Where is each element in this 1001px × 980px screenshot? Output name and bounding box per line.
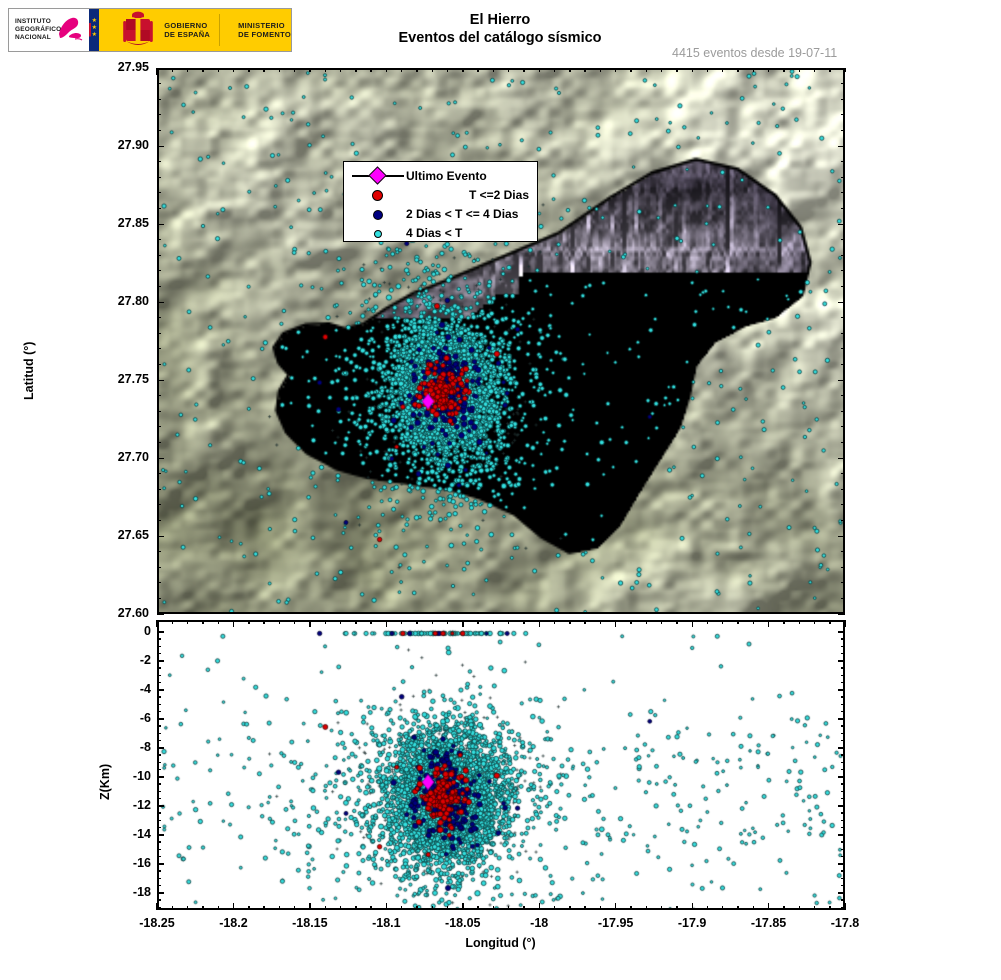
depth-minor-tick-right <box>841 653 845 654</box>
latitude-minor-tick <box>157 348 161 349</box>
latitude-tick-label: 27.70 <box>89 450 149 464</box>
longitude-map-tick <box>279 68 280 72</box>
longitude-map-tick <box>539 68 540 72</box>
latitude-minor-tick <box>157 364 161 365</box>
depth-minor-tick-right <box>841 892 845 893</box>
depth-minor-tick <box>157 762 161 763</box>
longitude-section-tick-bottom <box>263 906 264 910</box>
map-epicenter-scatter <box>159 70 843 612</box>
latitude-minor-tick-right <box>841 161 845 162</box>
depth-minor-tick-right <box>841 754 845 755</box>
longitude-map-tick <box>432 68 433 72</box>
latitude-minor-tick <box>157 458 161 459</box>
latitude-minor-tick-right <box>841 224 845 225</box>
eu-flag-strip: ★ ★ ★ <box>89 9 100 51</box>
depth-minor-tick <box>157 725 161 726</box>
longitude-section-tick-bottom <box>584 906 585 910</box>
depth-minor-tick-right <box>841 638 845 639</box>
depth-minor-tick-right <box>841 812 845 813</box>
longitude-section-tick-top <box>569 620 570 624</box>
longitude-section-tick-top <box>707 620 708 624</box>
institutional-logo-block: INSTITUTOGEOGRÁFICONACIONAL ★ ★ ★ <box>8 8 292 52</box>
latitude-minor-tick <box>157 395 161 396</box>
ign-emblem-icon <box>55 16 85 42</box>
longitude-section-tick-bottom <box>799 906 800 910</box>
latitude-minor-tick <box>157 567 161 568</box>
longitude-section-tick-top <box>630 620 631 624</box>
depth-tick-label: -14 <box>111 827 151 841</box>
depth-minor-tick <box>157 660 161 661</box>
depth-minor-tick <box>157 783 161 784</box>
depth-minor-tick <box>157 863 161 864</box>
longitude-map-tick <box>156 68 157 75</box>
depth-minor-tick <box>157 834 161 835</box>
longitude-map-tick <box>615 68 616 72</box>
longitude-section-tick-top <box>462 620 463 627</box>
depth-minor-tick-right <box>841 885 845 886</box>
longitude-section-tick-top <box>218 620 219 624</box>
depth-minor-tick-right <box>841 704 845 705</box>
longitude-map-tick <box>233 68 234 72</box>
title-line-1: El Hierro <box>300 11 700 29</box>
depth-minor-tick-right <box>841 762 845 763</box>
longitude-section-tick-top <box>248 620 249 624</box>
longitude-section-tick-bottom <box>156 903 157 910</box>
longitude-map-tick <box>477 68 478 72</box>
depth-minor-tick-right <box>841 682 845 683</box>
longitude-section-tick-bottom <box>844 903 845 910</box>
depth-minor-tick <box>157 856 161 857</box>
ign-logo: INSTITUTOGEOGRÁFICONACIONAL <box>9 9 89 51</box>
depth-minor-tick <box>157 704 161 705</box>
latitude-minor-tick <box>157 333 161 334</box>
longitude-section-tick-bottom <box>340 906 341 910</box>
longitude-section-tick-top <box>646 620 647 624</box>
depth-minor-tick-right <box>841 820 845 821</box>
longitude-map-tick <box>218 68 219 72</box>
depth-minor-tick <box>157 827 161 828</box>
longitude-map-tick <box>554 68 555 72</box>
depth-minor-tick-right <box>841 689 845 690</box>
longitude-map-tick <box>325 68 326 72</box>
longitude-section-tick-top <box>737 620 738 624</box>
longitude-map-tick <box>829 68 830 72</box>
longitude-map-tick <box>844 68 845 72</box>
gobierno-line2: DE ESPAÑA <box>164 30 210 39</box>
legend-label-3: 4 Dias < T <box>406 226 531 240</box>
legend-label-0: Ultimo Evento <box>406 169 531 183</box>
ministerio-line2: DE FOMENTO <box>238 30 291 39</box>
depth-hypocenter-scatter <box>159 622 843 908</box>
depth-minor-tick-right <box>841 660 845 661</box>
latitude-minor-tick-right <box>841 270 845 271</box>
longitude-tick-label: -18.2 <box>199 916 267 930</box>
depth-minor-tick-right <box>841 849 845 850</box>
latitude-minor-tick-right <box>841 286 845 287</box>
depth-minor-tick-right <box>841 827 845 828</box>
longitude-section-tick-bottom <box>309 903 310 910</box>
depth-axis-title: Z(Km) <box>98 764 112 800</box>
depth-tick-label: -10 <box>111 769 151 783</box>
latitude-minor-tick <box>157 208 161 209</box>
longitude-section-tick-top <box>508 620 509 624</box>
latitude-minor-tick-right <box>841 598 845 599</box>
longitude-axis-title: Longitud (°) <box>0 936 1001 950</box>
longitude-tick-label: -18 <box>505 916 573 930</box>
map-plot-panel[interactable]: Ultimo Evento T <=2 Dias 2 Dias < T <= 4… <box>157 68 845 614</box>
depth-minor-tick <box>157 899 161 900</box>
longitude-section-tick-bottom <box>202 906 203 910</box>
depth-tick-label: -6 <box>111 711 151 725</box>
legend-item-old: 4 Dias < T <box>350 223 531 242</box>
latitude-minor-tick <box>157 270 161 271</box>
longitude-section-tick-top <box>432 620 433 624</box>
longitude-section-tick-bottom <box>753 906 754 910</box>
longitude-section-tick-top <box>447 620 448 624</box>
longitude-map-tick <box>584 68 585 72</box>
latitude-minor-tick-right <box>841 567 845 568</box>
latitude-minor-tick <box>157 161 161 162</box>
longitude-section-tick-bottom <box>707 906 708 910</box>
longitude-tick-label: -18.05 <box>429 916 497 930</box>
ign-logo-line3: NACIONAL <box>15 34 51 41</box>
latitude-minor-tick-right <box>841 411 845 412</box>
latitude-minor-tick <box>157 130 161 131</box>
depth-minor-tick-right <box>841 798 845 799</box>
longitude-map-tick <box>294 68 295 72</box>
depth-minor-tick <box>157 849 161 850</box>
depth-minor-tick <box>157 718 161 719</box>
latitude-minor-tick-right <box>841 395 845 396</box>
longitude-tick-label: -18.15 <box>276 916 344 930</box>
longitude-section-tick-top <box>370 620 371 624</box>
longitude-section-tick-bottom <box>615 903 616 910</box>
longitude-map-tick <box>263 68 264 72</box>
latitude-minor-tick-right <box>841 582 845 583</box>
depth-minor-tick <box>157 646 161 647</box>
latitude-minor-tick <box>157 380 161 381</box>
longitude-map-tick <box>661 68 662 72</box>
latitude-minor-tick <box>157 239 161 240</box>
longitude-section-tick-top <box>309 620 310 627</box>
latitude-axis-title: Latitud (°) <box>22 342 36 400</box>
latitude-minor-tick <box>157 411 161 412</box>
longitude-section-tick-bottom <box>508 906 509 910</box>
ministerio-line1: MINISTERIO <box>238 21 285 30</box>
longitude-section-tick-top <box>386 620 387 627</box>
longitude-section-tick-top <box>325 620 326 624</box>
longitude-section-tick-bottom <box>248 906 249 910</box>
longitude-map-tick <box>814 68 815 72</box>
longitude-section-tick-bottom <box>569 906 570 910</box>
depth-minor-tick-right <box>841 696 845 697</box>
longitude-section-tick-bottom <box>600 906 601 910</box>
longitude-section-tick-bottom <box>814 906 815 910</box>
info-total-events: 4415 eventos desde 19-07-11 <box>672 45 837 62</box>
longitude-section-tick-top <box>523 620 524 624</box>
latitude-minor-tick <box>157 489 161 490</box>
latitude-minor-tick-right <box>841 348 845 349</box>
latitude-minor-tick-right <box>841 317 845 318</box>
longitude-section-tick-top <box>355 620 356 624</box>
depth-minor-tick <box>157 638 161 639</box>
longitude-section-tick-top <box>187 620 188 624</box>
longitude-section-tick-bottom <box>829 906 830 910</box>
longitude-section-tick-bottom <box>187 906 188 910</box>
longitude-section-tick-top <box>844 620 845 627</box>
cyan-circle-icon <box>350 223 406 242</box>
longitude-map-tick <box>753 68 754 72</box>
depth-tick-label: 0 <box>111 624 151 638</box>
latitude-minor-tick-right <box>841 489 845 490</box>
latitude-tick-label: 27.80 <box>89 294 149 308</box>
ign-logo-line1: INSTITUTO <box>15 18 51 25</box>
depth-minor-tick <box>157 812 161 813</box>
depth-minor-tick <box>157 754 161 755</box>
longitude-section-tick-bottom <box>294 906 295 910</box>
depth-minor-tick-right <box>841 805 845 806</box>
longitude-tick-label: -17.8 <box>811 916 879 930</box>
longitude-section-tick-bottom <box>325 906 326 910</box>
latitude-minor-tick-right <box>841 536 845 537</box>
depth-minor-tick-right <box>841 646 845 647</box>
longitude-section-tick-top <box>753 620 754 624</box>
longitude-map-tick <box>799 68 800 72</box>
depth-minor-tick-right <box>841 783 845 784</box>
longitude-section-tick-top <box>477 620 478 624</box>
longitude-section-tick-bottom <box>661 906 662 910</box>
legend-item-last-event: Ultimo Evento <box>350 166 531 185</box>
latitude-minor-tick <box>157 224 161 225</box>
depth-minor-tick <box>157 689 161 690</box>
longitude-tick-label: -18.25 <box>123 916 191 930</box>
longitude-map-tick <box>187 68 188 72</box>
blue-circle-icon <box>350 204 406 223</box>
longitude-section-tick-bottom <box>523 906 524 910</box>
depth-minor-tick <box>157 653 161 654</box>
longitude-map-tick <box>676 68 677 72</box>
latitude-minor-tick-right <box>841 208 845 209</box>
depth-tick-label: -12 <box>111 798 151 812</box>
depth-minor-tick <box>157 878 161 879</box>
latitude-minor-tick-right <box>841 99 845 100</box>
depth-minor-tick-right <box>841 899 845 900</box>
longitude-section-tick-top <box>661 620 662 624</box>
longitude-section-tick-bottom <box>172 906 173 910</box>
logo-divider <box>219 14 220 46</box>
depth-minor-tick <box>157 675 161 676</box>
latitude-minor-tick-right <box>841 364 845 365</box>
longitude-map-tick <box>447 68 448 72</box>
depth-minor-tick-right <box>841 675 845 676</box>
latitude-minor-tick-right <box>841 192 845 193</box>
longitude-section-tick-top <box>416 620 417 624</box>
latitude-minor-tick-right <box>841 520 845 521</box>
longitude-section-tick-bottom <box>233 903 234 910</box>
depth-minor-tick <box>157 841 161 842</box>
longitude-section-tick-top <box>263 620 264 624</box>
longitude-map-tick <box>523 68 524 72</box>
latitude-minor-tick <box>157 192 161 193</box>
longitude-tick-label: -17.9 <box>658 916 726 930</box>
longitude-map-tick <box>248 68 249 72</box>
longitude-map-tick <box>309 68 310 72</box>
longitude-section-tick-top <box>493 620 494 624</box>
longitude-section-tick-bottom <box>493 906 494 910</box>
latitude-tick-label: 27.60 <box>89 606 149 620</box>
longitude-tick-label: -17.95 <box>582 916 650 930</box>
coat-of-arms-icon <box>121 10 155 50</box>
longitude-section-tick-bottom <box>783 906 784 910</box>
longitude-section-tick-top <box>233 620 234 627</box>
latitude-minor-tick <box>157 473 161 474</box>
depth-tick-label: -4 <box>111 682 151 696</box>
depth-minor-tick-right <box>841 740 845 741</box>
red-circle-icon <box>350 185 406 204</box>
map-legend: Ultimo Evento T <=2 Dias 2 Dias < T <= 4… <box>343 161 538 242</box>
depth-minor-tick-right <box>841 725 845 726</box>
longitude-section-tick-bottom <box>646 906 647 910</box>
longitude-section-tick-top <box>156 620 157 627</box>
longitude-map-tick <box>340 68 341 72</box>
longitude-map-tick <box>416 68 417 72</box>
depth-minor-tick <box>157 791 161 792</box>
longitude-map-tick <box>401 68 402 72</box>
longitude-map-tick <box>737 68 738 72</box>
depth-minor-tick <box>157 885 161 886</box>
depth-minor-tick-right <box>841 776 845 777</box>
longitude-section-tick-bottom <box>279 906 280 910</box>
longitude-section-tick-top <box>600 620 601 624</box>
latitude-tick-label: 27.90 <box>89 138 149 152</box>
latitude-minor-tick <box>157 520 161 521</box>
latitude-minor-tick <box>157 614 161 615</box>
latitude-minor-tick <box>157 582 161 583</box>
depth-minor-tick <box>157 631 161 632</box>
depth-minor-tick <box>157 776 161 777</box>
longitude-map-tick <box>722 68 723 72</box>
longitude-section-tick-top <box>615 620 616 627</box>
depth-minor-tick-right <box>841 631 845 632</box>
latitude-tick-label: 27.85 <box>89 216 149 230</box>
depth-section-panel[interactable] <box>157 620 845 910</box>
latitude-minor-tick <box>157 504 161 505</box>
longitude-section-tick-bottom <box>630 906 631 910</box>
latitude-tick-label: 27.95 <box>89 60 149 74</box>
depth-minor-tick <box>157 798 161 799</box>
longitude-map-tick <box>600 68 601 72</box>
longitude-section-tick-bottom <box>416 906 417 910</box>
latitude-minor-tick-right <box>841 426 845 427</box>
longitude-map-tick <box>768 68 769 72</box>
latitude-minor-tick-right <box>841 504 845 505</box>
gobierno-line1: GOBIERNO <box>164 21 207 30</box>
latitude-tick-label: 27.65 <box>89 528 149 542</box>
latitude-minor-tick-right <box>841 239 845 240</box>
latitude-minor-tick <box>157 426 161 427</box>
depth-minor-tick-right <box>841 870 845 871</box>
latitude-minor-tick-right <box>841 177 845 178</box>
longitude-map-tick <box>508 68 509 72</box>
longitude-section-tick-top <box>294 620 295 624</box>
depth-minor-tick-right <box>841 878 845 879</box>
latitude-minor-tick-right <box>841 473 845 474</box>
longitude-map-tick <box>692 68 693 72</box>
latitude-minor-tick-right <box>841 302 845 303</box>
depth-minor-tick-right <box>841 747 845 748</box>
depth-minor-tick-right <box>841 863 845 864</box>
latitude-minor-tick <box>157 146 161 147</box>
latitude-minor-tick <box>157 114 161 115</box>
latitude-minor-tick <box>157 598 161 599</box>
depth-minor-tick <box>157 682 161 683</box>
latitude-minor-tick-right <box>841 614 845 615</box>
longitude-section-tick-bottom <box>539 903 540 910</box>
depth-tick-label: -16 <box>111 856 151 870</box>
depth-minor-tick <box>157 892 161 893</box>
longitude-map-tick <box>172 68 173 72</box>
longitude-tick-label: -18.1 <box>352 916 420 930</box>
longitude-map-tick <box>783 68 784 72</box>
latitude-minor-tick <box>157 551 161 552</box>
longitude-section-tick-bottom <box>462 903 463 910</box>
longitude-section-tick-bottom <box>355 906 356 910</box>
depth-tick-label: -2 <box>111 653 151 667</box>
longitude-section-tick-top <box>539 620 540 627</box>
page-title: El Hierro Eventos del catálogo sísmico <box>300 11 700 48</box>
latitude-minor-tick-right <box>841 551 845 552</box>
latitude-minor-tick <box>157 177 161 178</box>
depth-minor-tick-right <box>841 733 845 734</box>
latitude-minor-tick-right <box>841 458 845 459</box>
legend-label-2: 2 Dias < T <= 4 Dias <box>406 207 531 221</box>
title-line-2: Eventos del catálogo sísmico <box>300 29 700 48</box>
longitude-map-tick <box>386 68 387 72</box>
longitude-map-tick <box>646 68 647 72</box>
legend-label-1: T <=2 Dias <box>406 188 531 202</box>
longitude-map-tick <box>355 68 356 72</box>
longitude-section-tick-top <box>554 620 555 624</box>
depth-minor-tick <box>157 820 161 821</box>
latitude-minor-tick-right <box>841 130 845 131</box>
latitude-minor-tick-right <box>841 442 845 443</box>
depth-minor-tick-right <box>841 711 845 712</box>
longitude-section-tick-top <box>676 620 677 624</box>
longitude-map-tick <box>569 68 570 72</box>
depth-minor-tick <box>157 667 161 668</box>
longitude-section-tick-top <box>340 620 341 624</box>
longitude-section-tick-top <box>814 620 815 624</box>
longitude-section-tick-bottom <box>722 906 723 910</box>
latitude-minor-tick-right <box>841 380 845 381</box>
longitude-section-tick-bottom <box>737 906 738 910</box>
longitude-map-tick <box>707 68 708 72</box>
depth-minor-tick <box>157 696 161 697</box>
longitude-section-tick-top <box>279 620 280 624</box>
longitude-section-tick-bottom <box>218 906 219 910</box>
longitude-section-tick-top <box>401 620 402 624</box>
latitude-minor-tick <box>157 286 161 287</box>
longitude-section-tick-top <box>722 620 723 624</box>
depth-minor-tick <box>157 747 161 748</box>
depth-minor-tick <box>157 740 161 741</box>
longitude-map-tick <box>202 68 203 72</box>
depth-minor-tick-right <box>841 667 845 668</box>
latitude-minor-tick-right <box>841 146 845 147</box>
latitude-minor-tick-right <box>841 83 845 84</box>
latitude-minor-tick <box>157 302 161 303</box>
latitude-minor-tick <box>157 442 161 443</box>
